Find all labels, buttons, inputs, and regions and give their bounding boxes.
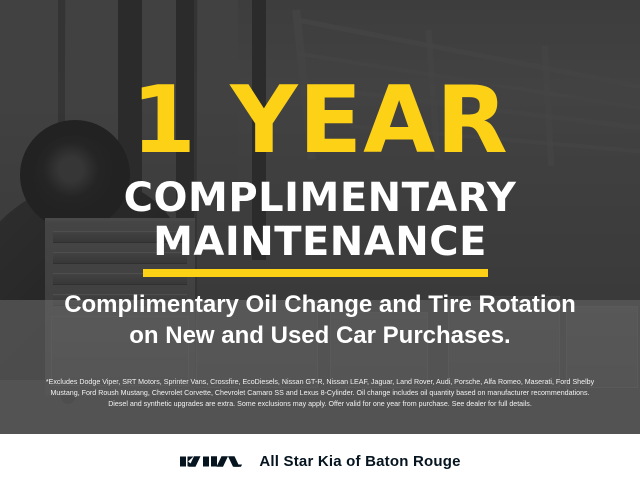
- tagline-line-1: Complimentary Oil Change and Tire Rotati…: [0, 289, 640, 320]
- disclaimer-text: *Excludes Dodge Viper, SRT Motors, Sprin…: [14, 377, 626, 410]
- disclaimer-line-3: Diesel and synthetic upgrades are extra.…: [14, 399, 626, 410]
- dealer-footer: All Star Kia of Baton Rouge: [0, 434, 640, 488]
- disclaimer-line-2: Mustang, Ford Roush Mustang, Chevrolet C…: [14, 388, 626, 399]
- disclaimer-line-1: *Excludes Dodge Viper, SRT Motors, Sprin…: [14, 377, 626, 388]
- headline-complimentary: COMPLIMENTARY: [0, 178, 640, 218]
- banner-content: 1 YEAR COMPLIMENTARY MAINTENANCE Complim…: [0, 0, 640, 488]
- dealer-name: All Star Kia of Baton Rouge: [259, 453, 460, 470]
- kia-logo-icon: [179, 453, 243, 470]
- headline-maintenance: MAINTENANCE: [0, 222, 640, 262]
- headline-year: 1 YEAR: [0, 74, 640, 167]
- promo-banner: 1 YEAR COMPLIMENTARY MAINTENANCE Complim…: [0, 0, 640, 488]
- tagline: Complimentary Oil Change and Tire Rotati…: [0, 289, 640, 351]
- tagline-line-2: on New and Used Car Purchases.: [0, 320, 640, 351]
- yellow-divider-rule: [143, 269, 488, 277]
